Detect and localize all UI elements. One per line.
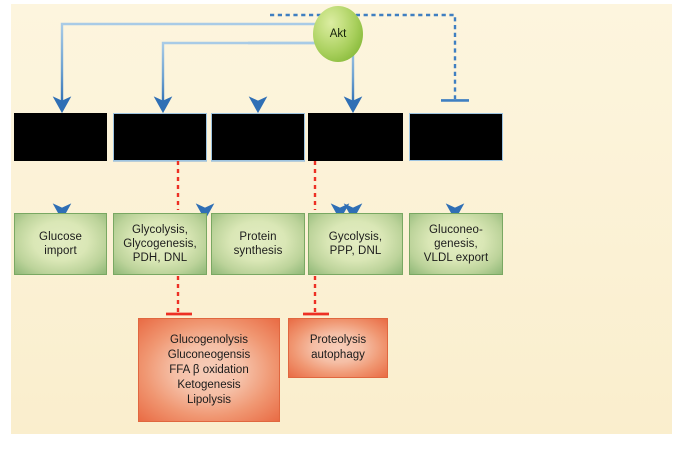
node-akt[interactable]: Akt <box>313 6 363 62</box>
process-box-gycolysis-ppp-dnl[interactable]: Gycolysis, PPP, DNL <box>308 213 403 275</box>
inhibited-box-catabolic[interactable]: Glucogenolysis Gluconeogensis FFA β oxid… <box>138 318 280 422</box>
process-box-protein-synthesis[interactable]: Protein synthesis <box>211 213 305 275</box>
akt-label: Akt <box>313 28 363 40</box>
process-box-1-label: Glucose import <box>36 230 85 258</box>
process-box-3-label: Protein synthesis <box>231 230 286 258</box>
process-box-glucose-import[interactable]: Glucose import <box>14 213 107 275</box>
process-box-4-label: Gycolysis, PPP, DNL <box>326 230 385 258</box>
process-box-glycolysis-glycogenesis[interactable]: Glycolysis, Glycogenesis, PDH, DNL <box>113 213 207 275</box>
process-box-2-label: Glycolysis, Glycogenesis, PDH, DNL <box>120 223 200 265</box>
redacted-box-3[interactable] <box>211 113 305 161</box>
process-box-gluconeogenesis-vldl[interactable]: Gluconeo- genesis, VLDL export <box>409 213 503 275</box>
inhibited-box-1-label: Glucogenolysis Gluconeogensis FFA β oxid… <box>164 333 254 408</box>
redacted-box-4[interactable] <box>308 113 403 161</box>
figure-canvas: Akt Glucose import Glycolysis, Glycogene… <box>0 0 682 466</box>
inhibited-box-2-label: Proteolysis autophagy <box>306 333 370 363</box>
redacted-box-5[interactable] <box>409 113 503 161</box>
redacted-box-1[interactable] <box>14 113 107 161</box>
process-box-5-label: Gluconeo- genesis, VLDL export <box>421 223 492 265</box>
inhibited-box-proteolysis[interactable]: Proteolysis autophagy <box>288 318 388 378</box>
redacted-box-2[interactable] <box>113 113 207 161</box>
